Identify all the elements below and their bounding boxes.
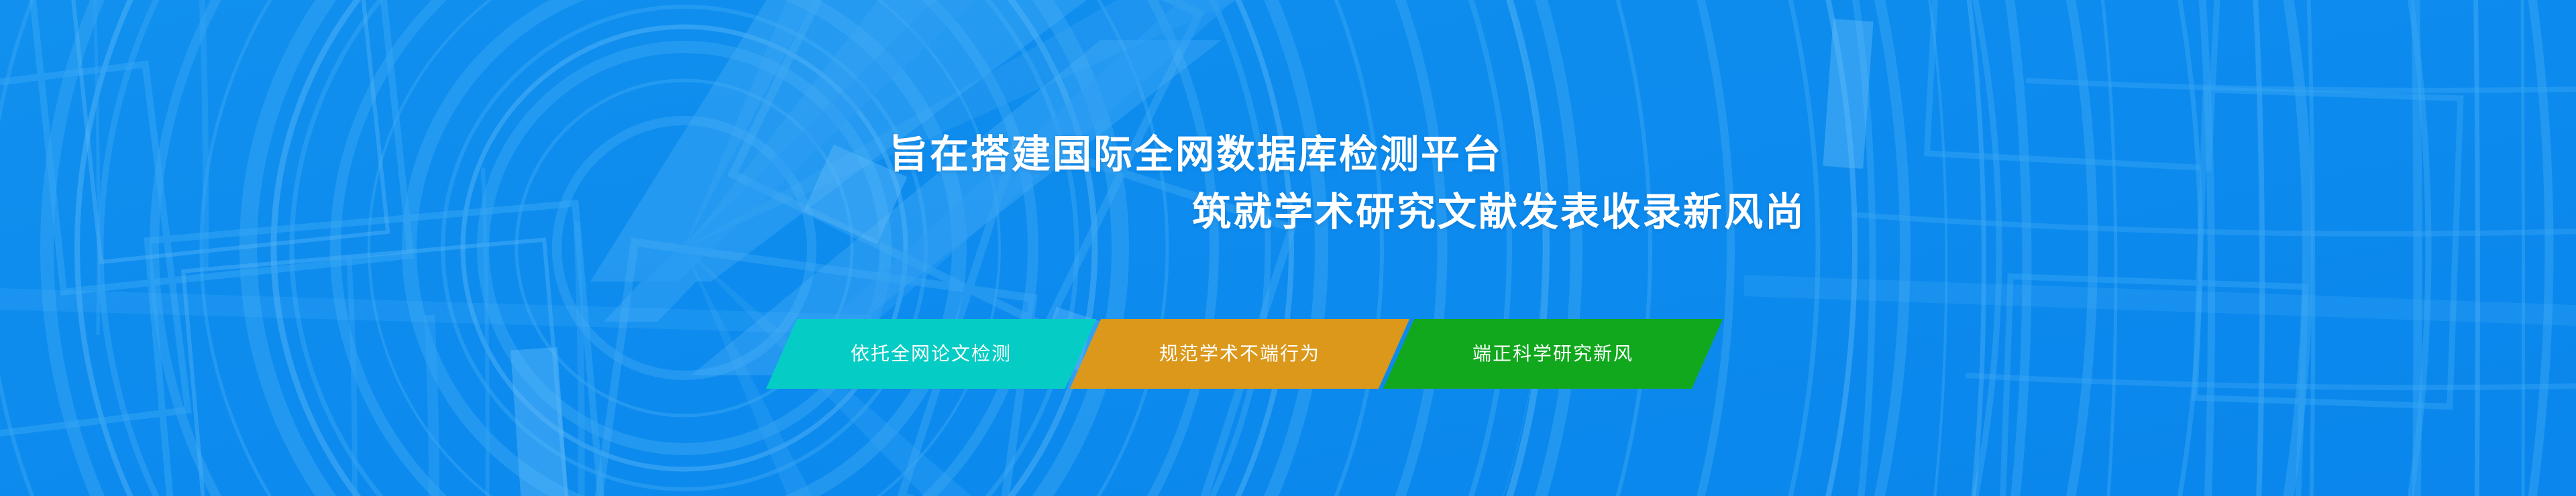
- headline-group: 旨在搭建国际全网数据库检测平台 筑就学术研究文献发表收录新风尚: [0, 126, 1806, 241]
- feature-badge-3[interactable]: 端正科学研究新风: [1383, 319, 1723, 389]
- headline-line-1: 旨在搭建国际全网数据库检测平台: [0, 126, 1806, 184]
- feature-badge-2-label: 规范学术不端行为: [1159, 345, 1320, 363]
- feature-badge-bar: 依托全网论文检测 规范学术不端行为 端正科学研究新风: [782, 319, 1707, 389]
- background-pattern: [0, 0, 2576, 496]
- promo-banner: 旨在搭建国际全网数据库检测平台 筑就学术研究文献发表收录新风尚 依托全网论文检测…: [0, 0, 2576, 496]
- feature-badge-1-label: 依托全网论文检测: [851, 345, 1012, 363]
- feature-badge-1[interactable]: 依托全网论文检测: [766, 319, 1096, 389]
- headline-line-2: 筑就学术研究文献发表收录新风尚: [0, 184, 1806, 241]
- feature-badge-2[interactable]: 规范学术不端行为: [1070, 319, 1409, 389]
- feature-badge-3-label: 端正科学研究新风: [1472, 345, 1633, 363]
